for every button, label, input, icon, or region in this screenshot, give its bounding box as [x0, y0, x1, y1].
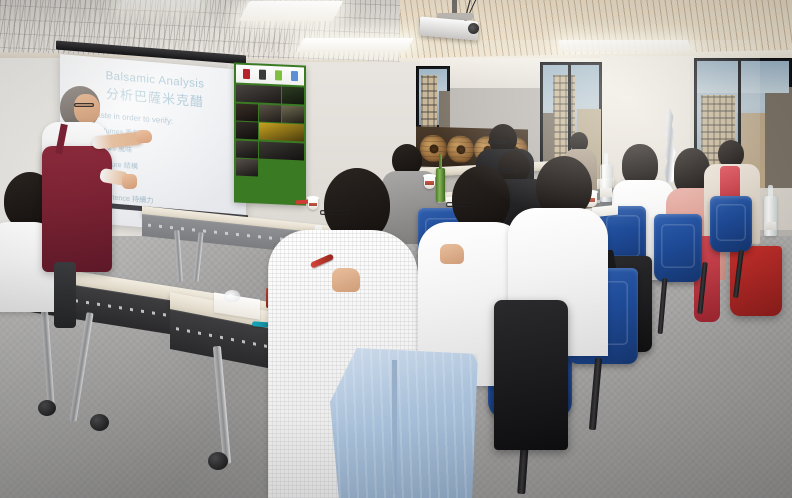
table-caster — [38, 400, 56, 416]
poster-swatch-dark — [259, 69, 266, 79]
poster-cell — [236, 122, 258, 140]
poster-swatch-green — [275, 70, 282, 80]
black-bag-on-chair — [494, 300, 568, 450]
presenter-apron — [42, 146, 112, 272]
presenter-hand — [136, 130, 152, 143]
water-bottle — [764, 196, 777, 236]
seminar-room-photo: Balsamic Analysis 分析巴薩米克醋 We taste in or… — [0, 0, 792, 498]
glasses-icon — [74, 103, 94, 107]
poster-cell — [259, 141, 304, 160]
poster-cell — [259, 123, 304, 142]
presenter-leg — [54, 262, 76, 328]
jacket-fold — [392, 360, 397, 495]
table-caster — [208, 452, 228, 470]
poster-cell — [236, 159, 258, 177]
poster-header — [236, 65, 304, 86]
ceiling-light-panel — [117, 0, 203, 10]
poster-cell — [236, 85, 281, 104]
poster-cell — [259, 104, 281, 122]
presenter-fist — [122, 174, 137, 189]
poster-swatch-red — [243, 69, 250, 79]
presenter — [40, 86, 136, 272]
chair-right-3[interactable] — [710, 196, 752, 252]
blue-jacket — [330, 348, 478, 498]
tasting-glass — [224, 290, 240, 302]
projector-lens — [468, 23, 479, 34]
ceiling-light-panel — [296, 38, 414, 52]
presenter-face — [74, 94, 100, 124]
glasses-icon — [488, 140, 506, 144]
glasses-icon — [446, 202, 476, 207]
poster-cell — [282, 105, 304, 123]
hand — [332, 268, 360, 292]
oak-barrel — [447, 135, 474, 163]
poster-cell — [236, 103, 258, 121]
glasses-icon — [320, 210, 350, 215]
ceiling-light-panel — [239, 1, 344, 21]
poster-cell — [236, 140, 258, 158]
poster-swatch-blue — [291, 71, 298, 81]
poster-cell — [282, 87, 304, 105]
chair-right-2[interactable] — [654, 214, 702, 282]
hand — [440, 244, 464, 264]
ceiling-light-panel — [558, 40, 692, 52]
table-caster — [90, 414, 109, 431]
window-back — [416, 66, 450, 128]
